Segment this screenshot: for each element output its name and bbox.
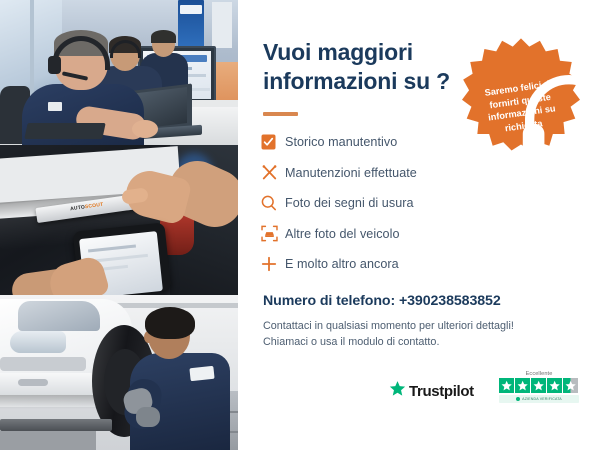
contact-description: Contattaci in qualsiasi momento per ulte… <box>263 318 553 350</box>
feature-item-storico-manutentivo: Storico manutentivo <box>261 128 491 156</box>
plus-icon <box>261 256 285 272</box>
verified-check-icon <box>516 397 520 401</box>
feature-list: Storico manutentivo Manutenzioni effettu… <box>261 128 491 281</box>
page-title: Vuoi maggiori informazioni su ? <box>263 38 463 96</box>
mechanic-wheel-photo <box>0 295 238 450</box>
feature-item-manutenzioni-effettuate: Manutenzioni effettuate <box>261 159 491 187</box>
promo-banner: AUTOSCOUT Vuoi maggiori informazioni <box>0 0 600 450</box>
contact-line-1: Contattaci in qualsiasi momento per ulte… <box>263 320 514 332</box>
scan-car-icon <box>261 225 285 242</box>
feature-item-molto-altro: E molto altro ancora <box>261 250 491 278</box>
feature-label: Foto dei segni di usura <box>285 196 414 210</box>
feature-label: E molto altro ancora <box>285 257 399 271</box>
star-filled <box>547 378 562 393</box>
star-rating <box>499 378 579 393</box>
trustpilot-rating: Eccellente AZIENDA VERIFICATA <box>499 371 579 403</box>
car-inspection-ruler-photo: AUTOSCOUT <box>0 145 238 295</box>
trustpilot-star-icon <box>389 380 406 402</box>
tools-cross-icon <box>261 164 285 181</box>
title-underline-divider <box>263 112 298 116</box>
star-filled <box>499 378 514 393</box>
star-filled <box>515 378 530 393</box>
phone-heading: Numero di telefono: +390238583852 <box>263 293 501 309</box>
feature-label: Altre foto del veicolo <box>285 227 400 241</box>
phone-number[interactable]: +390238583852 <box>399 293 501 309</box>
trustpilot-logo: Trustpilot <box>389 380 474 402</box>
verified-label: AZIENDA VERIFICATA <box>522 397 562 401</box>
checkbox-checked-icon <box>261 134 285 150</box>
feature-label: Manutenzioni effettuate <box>285 166 417 180</box>
trustpilot-widget[interactable]: Trustpilot Eccellente AZIENDA VERIFICATA <box>389 371 579 413</box>
verified-badge: AZIENDA VERIFICATA <box>499 395 579 403</box>
star-half <box>563 378 578 393</box>
star-filled <box>531 378 546 393</box>
feature-item-foto-segni-usura: Foto dei segni di usura <box>261 189 491 217</box>
contact-line-2: Chiamaci o usa il modulo di contatto. <box>263 336 439 348</box>
trustpilot-wordmark: Trustpilot <box>409 383 474 400</box>
headset-icon <box>510 60 532 82</box>
rating-label: Eccellente <box>499 371 579 377</box>
content-panel: Vuoi maggiori informazioni su ? Saremo f… <box>241 0 600 450</box>
photo-column: AUTOSCOUT <box>0 0 238 450</box>
phone-label: Numero di telefono: <box>263 293 395 309</box>
magnifier-icon <box>261 195 285 211</box>
feature-label: Storico manutentivo <box>285 135 397 149</box>
call-center-agents-photo <box>0 0 238 145</box>
feature-item-altre-foto-veicolo: Altre foto del veicolo <box>261 220 491 248</box>
